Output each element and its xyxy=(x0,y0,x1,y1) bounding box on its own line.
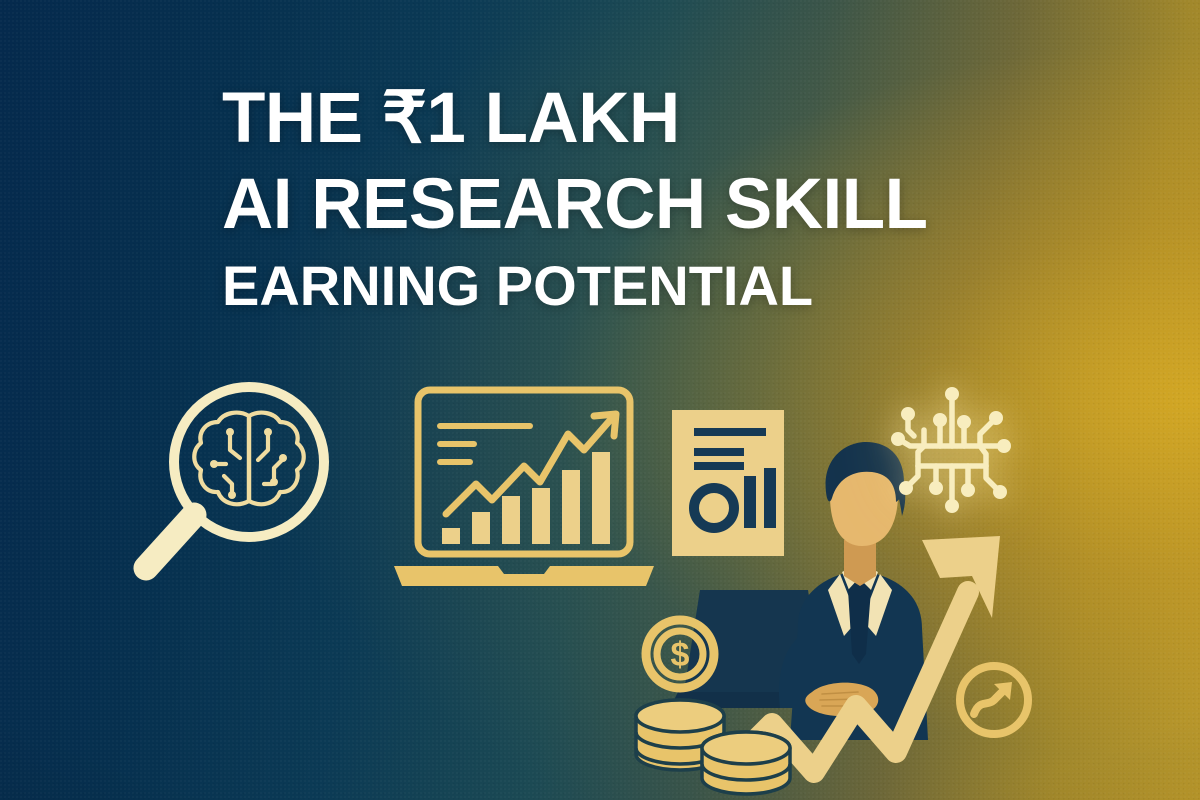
headline-line-3: EARNING POTENTIAL xyxy=(222,259,928,314)
magnifier-brain-icon xyxy=(112,372,352,602)
laptop-growth-chart-icon xyxy=(388,384,660,596)
headline-line-1: THE ₹1 LAKH xyxy=(222,84,928,154)
headline-block: THE ₹1 LAKH AI RESEARCH SKILL EARNING PO… xyxy=(222,84,928,314)
svg-text:$: $ xyxy=(671,636,690,674)
trending-up-badge-icon xyxy=(946,652,1042,748)
coin-stack-icon: $ xyxy=(618,612,808,800)
ai-circuit-node-icon xyxy=(878,382,1026,520)
headline-line-2: AI RESEARCH SKILL xyxy=(222,170,928,240)
poster-canvas: THE ₹1 LAKH AI RESEARCH SKILL EARNING PO… xyxy=(0,0,1200,800)
